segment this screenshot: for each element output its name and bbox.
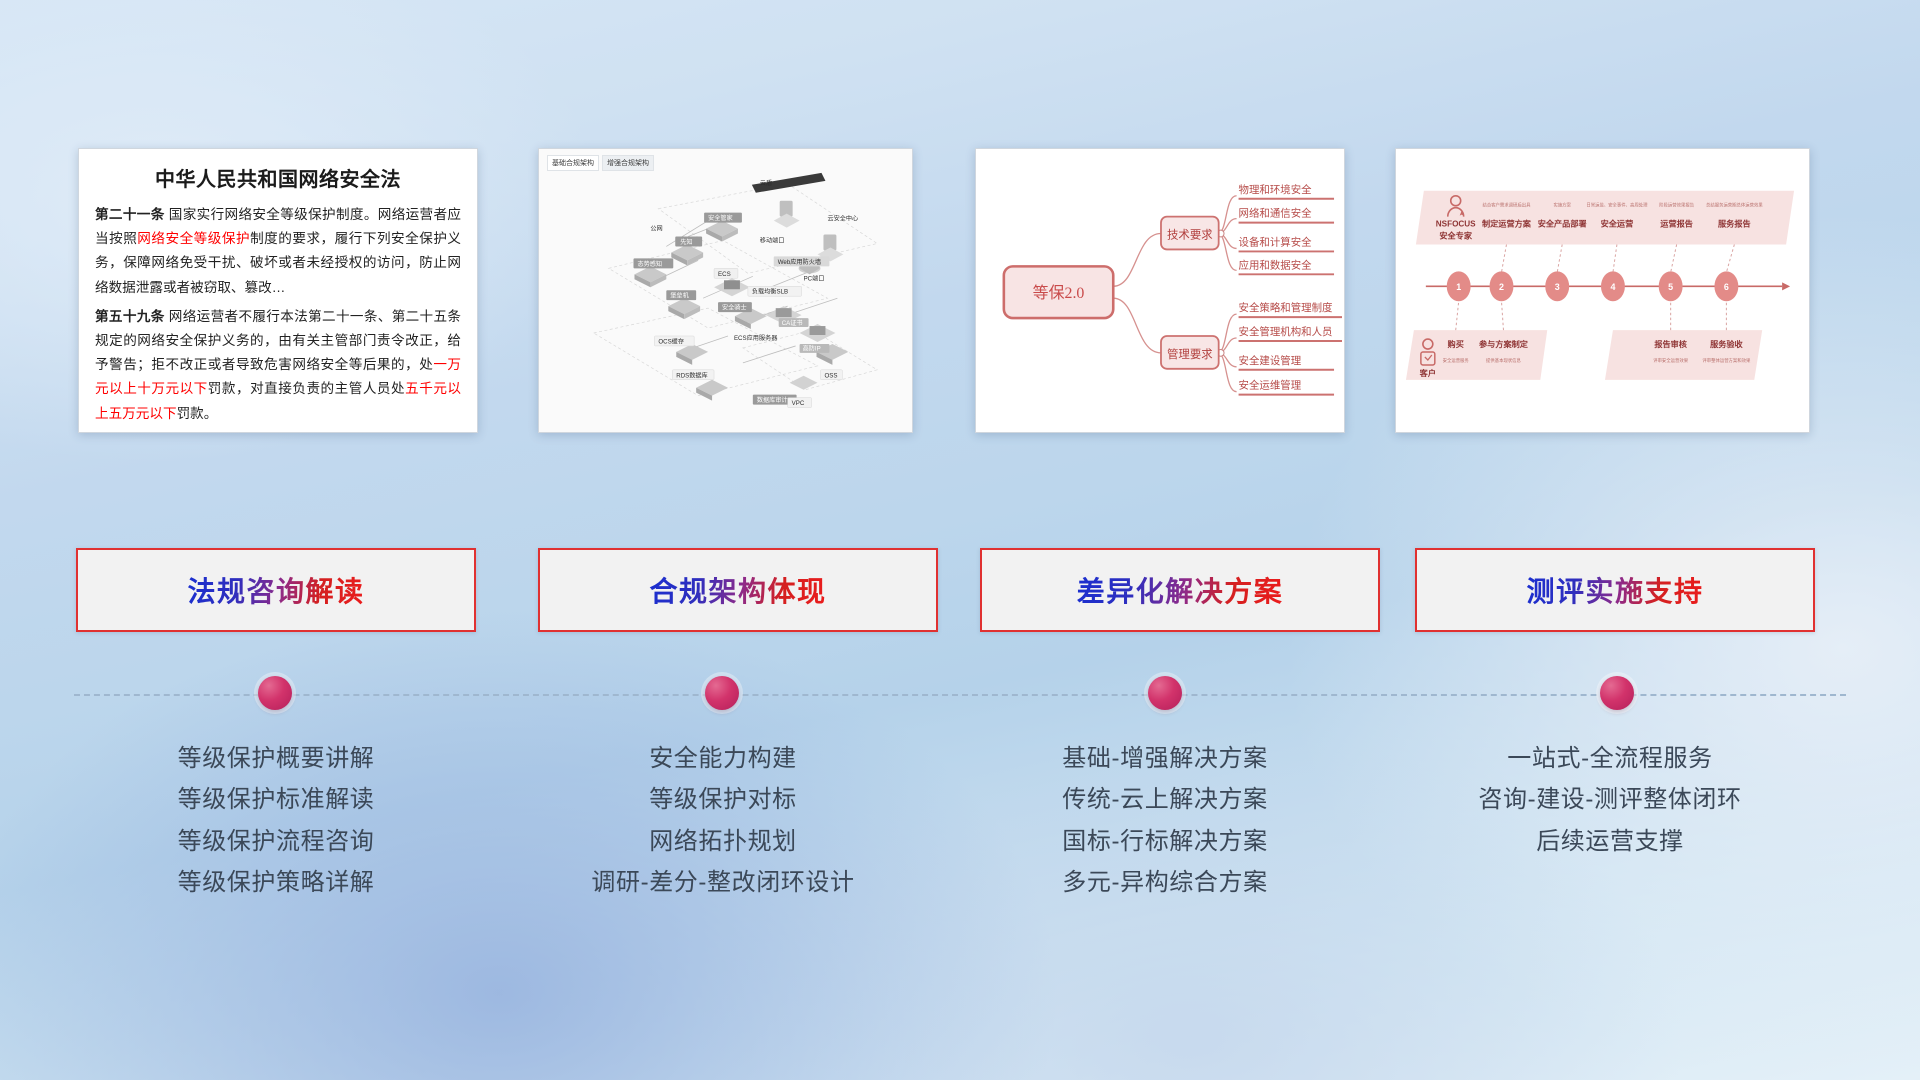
flow-bottom-note-3: 评审安全运营效果 — [1653, 357, 1689, 364]
list-item: 后续运营支撑 — [1410, 821, 1810, 862]
card-cloud-architecture[interactable]: 基础合规架构 增强合规架构 — [538, 148, 913, 433]
article-21-highlight: 网络安全等级保护 — [137, 231, 250, 246]
headline-box-differentiated-solution[interactable]: 差异化解决方案 — [980, 548, 1380, 632]
flow-top-note-3: 日常运监、安全事件、高周处理 — [1586, 202, 1648, 209]
flow-top-note-2: 实施方案 — [1553, 202, 1571, 209]
service-flow-canvas: NSFOCUS 安全专家 客户 结合客户需求调研后出具 制定运营方案 实施方案 … — [1396, 149, 1809, 433]
timeline-dot-1[interactable] — [258, 676, 292, 710]
arch-node-security-knight: 安全骑士 — [722, 304, 747, 312]
headline-label-2: 合规架构体现 — [649, 570, 826, 610]
flow-expert-name: NSFOCUS — [1436, 220, 1476, 229]
mindmap-leaf-ops-mgmt: 安全运维管理 — [1239, 379, 1302, 392]
preview-card-row: 中华人民共和国网络安全法 第二十一条 国家实行网络安全等级保护制度。网络运营者应… — [0, 148, 1920, 448]
mindmap-leaf-app-data: 应用和数据安全 — [1239, 258, 1313, 271]
article-59-label: 第五十九条 — [95, 309, 165, 324]
architecture-canvas: 态势感知 先知 安全管家 堡垒机 ECS 安全骑士 OCS缓存 — [539, 149, 912, 432]
mindmap-leaf-construction-mgmt: 安全建设管理 — [1239, 354, 1302, 367]
article-59-text-c: 罚款。 — [177, 406, 218, 421]
mindmap-branch-technical: 技术要求 — [1167, 229, 1213, 242]
flow-top-note-1: 结合客户需求调研后出具 — [1482, 202, 1531, 209]
mindmap-leaf-policy-system: 安全策略和管理制度 — [1239, 301, 1333, 314]
law-article-21: 第二十一条 国家实行网络安全等级保护制度。网络运营者应当按照网络安全等级保护制度… — [95, 203, 461, 300]
arch-node-foresight: 先知 — [680, 238, 692, 246]
arch-node-vpc: VPC — [792, 400, 805, 407]
flow-step-6: 6 — [1724, 282, 1729, 292]
architecture-diagram: 基础合规架构 增强合规架构 — [539, 149, 912, 432]
timeline-dot-2[interactable] — [705, 676, 739, 710]
flow-bottom-title-4: 服务验收 — [1710, 339, 1743, 349]
flow-top-title-3: 安全运营 — [1601, 219, 1634, 229]
arch-node-database-audit: 数据库审计 — [757, 396, 788, 404]
list-item: 等级保护对标 — [523, 779, 923, 820]
arch-node-load-balancer: 负载均衡SLB — [752, 288, 788, 296]
detail-list-3: 基础-增强解决方案 传统-云上解决方案 国标-行标解决方案 多元-异构综合方案 — [965, 738, 1365, 903]
arch-node-mobile-endpoint: 移动端口 — [760, 236, 785, 244]
list-item: 传统-云上解决方案 — [965, 779, 1365, 820]
flow-step-3: 3 — [1555, 282, 1560, 292]
mindmap-leaf-device-compute: 设备和计算安全 — [1239, 235, 1313, 248]
card-mindmap-dengbao[interactable]: 等保2.0 技术要求 管理要求 物理和环境安全 网络和通信安全 设备和计算安全 … — [975, 148, 1345, 433]
law-article-59: 第五十九条 网络运营者不履行本法第二十一条、第二十五条规定的网络安全保护义务的，… — [95, 305, 461, 426]
headline-label-3: 差异化解决方案 — [1077, 570, 1284, 610]
law-title: 中华人民共和国网络安全法 — [95, 163, 461, 192]
headline-row: 法规咨询解读 合规架构体现 差异化解决方案 测评实施支持 — [0, 548, 1920, 632]
flow-bottom-note-4: 评审整体运营方案和效果 — [1702, 357, 1751, 364]
card-cybersecurity-law[interactable]: 中华人民共和国网络安全法 第二十一条 国家实行网络安全等级保护制度。网络运营者应… — [78, 148, 478, 433]
arch-node-pc-endpoint: PC端口 — [804, 274, 825, 282]
flow-step-4: 4 — [1610, 282, 1615, 292]
mindmap-leaf-physical-env: 物理和环境安全 — [1239, 183, 1313, 196]
headline-box-regulation-consulting[interactable]: 法规咨询解读 — [76, 548, 476, 632]
list-item: 咨询-建设-测评整体闭环 — [1410, 779, 1810, 820]
card-service-flow[interactable]: NSFOCUS 安全专家 客户 结合客户需求调研后出具 制定运营方案 实施方案 … — [1395, 148, 1810, 433]
list-item: 多元-异构综合方案 — [965, 862, 1365, 903]
flow-bottom-title-2: 参与方案制定 — [1479, 339, 1529, 349]
mindmap-leaf-network-comm: 网络和通信安全 — [1239, 207, 1313, 220]
mindmap-root-label: 等保2.0 — [1033, 284, 1085, 302]
timeline-dot-4[interactable] — [1600, 676, 1634, 710]
service-flow-diagram: NSFOCUS 安全专家 客户 结合客户需求调研后出具 制定运营方案 实施方案 … — [1396, 149, 1809, 432]
flow-top-note-4: 阶段运营效果报告 — [1659, 202, 1695, 209]
arch-node-bastion-host: 堡垒机 — [670, 292, 689, 300]
mindmap-canvas: 等保2.0 技术要求 管理要求 物理和环境安全 网络和通信安全 设备和计算安全 … — [976, 149, 1344, 432]
flow-top-title-4: 运营报告 — [1660, 219, 1693, 229]
arch-node-public-network: 公网 — [650, 226, 662, 233]
detail-list-1: 等级保护概要讲解 等级保护标准解读 等级保护流程咨询 等级保护策略详解 — [76, 738, 476, 903]
flow-bottom-note-2: 提供基本现状信息 — [1486, 357, 1522, 364]
arch-node-waf: Web应用防火墙 — [778, 258, 821, 266]
detail-list-4: 一站式-全流程服务 咨询-建设-测评整体闭环 后续运营支撑 — [1410, 738, 1810, 862]
arch-node-ca-certificate: CA证书 — [782, 319, 803, 327]
flow-step-5: 5 — [1668, 282, 1673, 292]
mindmap-diagram: 等保2.0 技术要求 管理要求 物理和环境安全 网络和通信安全 设备和计算安全 … — [976, 149, 1344, 432]
headline-label-4: 测评实施支持 — [1526, 570, 1703, 610]
list-item: 等级保护流程咨询 — [76, 821, 476, 862]
article-21-label: 第二十一条 — [95, 207, 165, 222]
arch-node-rds-database: RDS数据库 — [676, 371, 707, 379]
headline-box-assessment-support[interactable]: 测评实施支持 — [1415, 548, 1815, 632]
arch-node-situational-awareness: 态势感知 — [637, 260, 662, 268]
slide-canvas: 中华人民共和国网络安全法 第二十一条 国家实行网络安全等级保护制度。网络运营者应… — [0, 0, 1920, 1080]
list-item: 等级保护策略详解 — [76, 862, 476, 903]
arch-node-cloud-shield: 云盾 — [760, 180, 772, 187]
flow-top-title-2: 安全产品部署 — [1538, 219, 1587, 229]
arch-node-ecs: ECS — [718, 271, 731, 278]
list-item: 等级保护标准解读 — [76, 779, 476, 820]
headline-label-1: 法规咨询解读 — [187, 570, 364, 610]
arch-node-ecs-app-server: ECS应用服务器 — [734, 334, 777, 342]
detail-list-row: 等级保护概要讲解 等级保护标准解读 等级保护流程咨询 等级保护策略详解 安全能力… — [0, 738, 1920, 988]
flow-customer-label: 客户 — [1419, 368, 1436, 378]
timeline-dot-3[interactable] — [1148, 676, 1182, 710]
article-59-text-b: 罚款，对直接负责的主管人员处 — [208, 381, 405, 396]
flow-bottom-note-1: 安全运营服务 — [1443, 357, 1470, 364]
law-text-block: 中华人民共和国网络安全法 第二十一条 国家实行网络安全等级保护制度。网络运营者应… — [79, 149, 477, 433]
flow-step-2: 2 — [1499, 282, 1504, 292]
list-item: 安全能力构建 — [523, 738, 923, 779]
flow-step-1: 1 — [1456, 282, 1461, 292]
flow-top-title-5: 服务报告 — [1718, 219, 1751, 229]
timeline — [0, 660, 1920, 730]
arch-node-ocs-cache: OCS缓存 — [658, 337, 684, 345]
flow-top-note-5: 总结服务运营期总体运营效果 — [1706, 202, 1763, 209]
mindmap-branch-management: 管理要求 — [1167, 347, 1213, 361]
timeline-dashed-line — [74, 694, 1846, 696]
list-item: 网络拓扑规划 — [523, 821, 923, 862]
list-item: 等级保护概要讲解 — [76, 738, 476, 779]
mindmap-leaf-org-personnel: 安全管理机构和人员 — [1239, 325, 1333, 338]
list-item: 国标-行标解决方案 — [965, 821, 1365, 862]
arch-node-cloud-security-center: 云安全中心 — [827, 215, 858, 223]
list-item: 调研-差分-整改闭环设计 — [523, 862, 923, 903]
list-item: 基础-增强解决方案 — [965, 738, 1365, 779]
headline-box-compliance-architecture[interactable]: 合规架构体现 — [538, 548, 938, 632]
flow-bottom-title-3: 报告审核 — [1654, 339, 1687, 349]
arch-node-oss: OSS — [824, 372, 837, 379]
flow-expert-sub: 安全专家 — [1439, 231, 1472, 241]
arch-node-security-butler: 安全管家 — [708, 214, 733, 222]
arch-node-anti-ddos-ip: 高防IP — [803, 345, 821, 353]
list-item: 一站式-全流程服务 — [1410, 738, 1810, 779]
detail-list-2: 安全能力构建 等级保护对标 网络拓扑规划 调研-差分-整改闭环设计 — [523, 738, 923, 903]
flow-bottom-title-1: 购买 — [1447, 339, 1464, 349]
flow-top-title-1: 制定运营方案 — [1482, 219, 1532, 229]
